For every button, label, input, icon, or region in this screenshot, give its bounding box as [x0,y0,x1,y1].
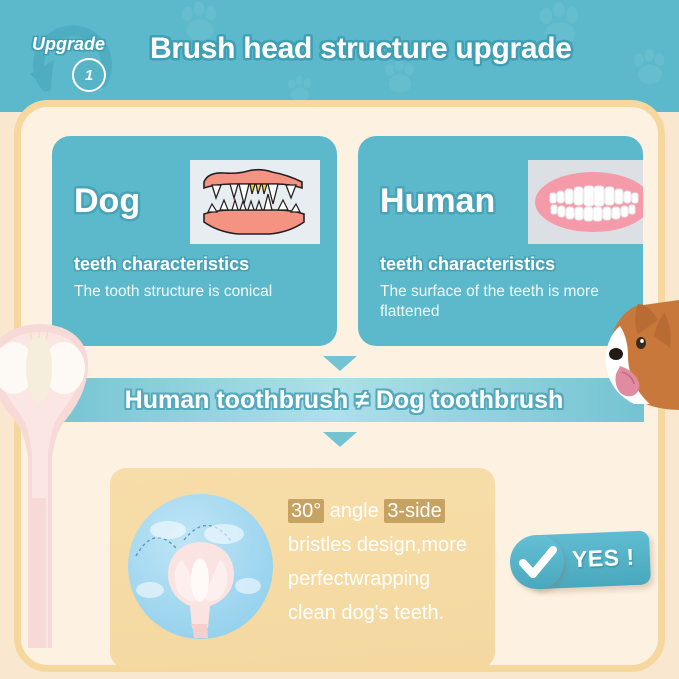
banner-text: Human toothbrush ≠ Dog toothbrush [125,386,564,415]
card-top-row-dog: Dog [74,160,327,244]
feature-highlight-sides: 3-side [384,499,444,523]
card-heading-human: teeth characteristics [380,254,555,275]
brush-head-water-splash [128,494,273,639]
feature-highlight-angle: 30° [288,499,324,523]
circular-arrow-icon [16,8,134,104]
corgi-dog-photo [576,300,679,422]
feature-line4: clean dog's teeth. [288,602,444,624]
card-description-dog: The tooth structure is conical [74,282,323,302]
card-top-row-human: Human [380,160,633,244]
dog-teeth-illustration [190,160,320,244]
badge-number-label: 1 [72,58,106,92]
check-icon [510,535,564,589]
feature-line2: bristles design,more [288,534,467,556]
feature-line1-mid: angle [324,500,384,522]
card-label-human: Human [380,182,495,221]
yes-badge: YES ! [510,531,650,593]
pink-three-sided-brush-head [0,318,92,648]
chevron-down-icon-top [323,356,357,371]
header-bar: Upgrade 1 Brush head structure upgrade [0,0,679,112]
human-teeth-illustration [528,160,643,244]
comparison-banner: Human toothbrush ≠ Dog toothbrush [44,378,644,422]
page-title: Brush head structure upgrade [150,32,650,66]
card-label-dog: Dog [74,182,140,221]
feature-line3: perfectwrapping [288,568,430,590]
comparison-card-dog: Dog [52,136,337,346]
infographic-root: Upgrade 1 Brush head structure upgrade D… [0,0,679,679]
feature-text: 30° angle 3-side bristles design,more pe… [288,494,493,630]
badge-word-label: Upgrade [32,34,105,55]
yes-badge-label: YES ! [571,544,635,574]
upgrade-badge: Upgrade 1 [16,8,134,104]
feature-card: 30° angle 3-side bristles design,more pe… [110,468,495,668]
chevron-down-icon-bottom [323,432,357,447]
card-heading-dog: teeth characteristics [74,254,249,275]
